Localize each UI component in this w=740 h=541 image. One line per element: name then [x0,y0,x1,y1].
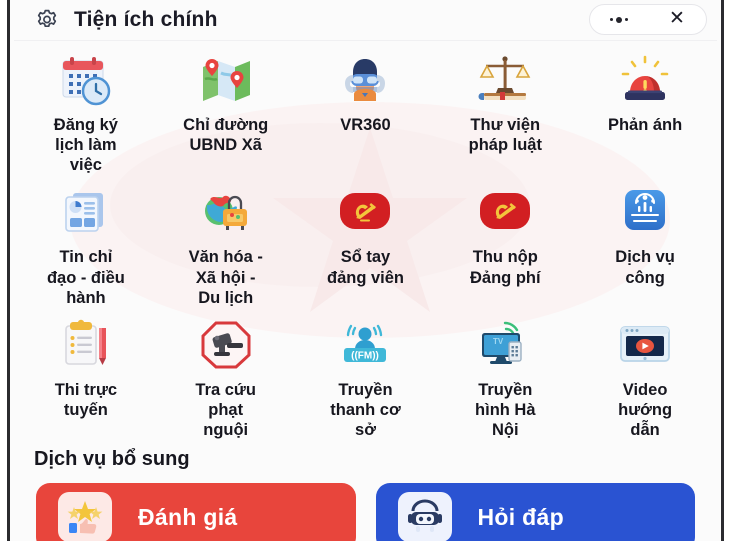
utility-label: Tra cứu phạt nguội [195,380,256,440]
utility-label: Phản ánh [608,115,682,135]
utility-tile-dang-ky-lich-lam-viec[interactable]: Đăng ký lịch làm việc [16,45,156,177]
speed-camera-icon [195,316,257,374]
calendar-clock-icon [55,51,117,109]
utility-label: Sổ tay đảng viên [327,247,404,287]
utility-label: Thu nộp Đảng phí [470,247,541,287]
danh-gia-button[interactable]: Đánh giá [36,483,356,541]
video-player-icon [614,316,676,374]
party-emblem-icon [334,183,396,241]
fm-radio-icon: ((FM)) [334,316,396,374]
screenshot-border-right [721,0,724,541]
utility-label: Văn hóa - Xã hội - Du lịch [189,247,263,307]
newspaper-report-icon [55,183,117,241]
utility-tile-tin-chi-dao-dieu-hanh[interactable]: Tin chỉ đạo - điều hành [16,177,156,309]
utility-label: Truyền hình Hà Nội [475,380,536,440]
utility-tile-tra-cuu-phat-nguoi[interactable]: Tra cứu phạt nguội [156,310,296,442]
vr-headset-icon [334,51,396,109]
extra-services-heading: Dịch vụ bổ sung [34,448,721,471]
utility-tile-thu-nop-dang-phi[interactable]: Thu nộp Đảng phí [435,177,575,309]
close-icon[interactable]: ✕ [663,7,691,32]
map-location-icon [195,51,257,109]
hoi-dap-button[interactable]: Hỏi đáp [376,483,696,541]
window-controls: ✕ [589,4,707,35]
utility-tile-truyen-hinh-ha-noi[interactable]: TV Truyền hình Hà Nội [435,310,575,442]
panel-header: Tiện ích chính ✕ [10,0,721,40]
svg-text:TV: TV [493,337,504,346]
public-service-icon [614,183,676,241]
chatbot-icon [398,492,452,541]
utility-tile-thi-truc-tuyen[interactable]: Thi trực tuyến [16,310,156,442]
danh-gia-label: Đánh giá [138,504,238,531]
extra-services-buttons: Đánh giá Hỏi đáp [10,471,721,541]
utility-label: Đăng ký lịch làm việc [54,115,118,175]
utility-tile-chi-duong-ubnd-xa[interactable]: Chỉ đường UBND Xã [156,45,296,177]
law-scales-book-icon [474,51,536,109]
utility-label: Video hướng dẫn [618,380,672,440]
utility-label: VR360 [340,115,390,135]
header-divider [14,40,717,41]
utility-tile-van-hoa-xa-hoi-du-lich[interactable]: Văn hóa - Xã hội - Du lịch [156,177,296,309]
utility-tile-video-huong-dan[interactable]: Video hướng dẫn [575,310,715,442]
utility-tile-dich-vu-cong[interactable]: Dịch vụ công [575,177,715,309]
gear-icon[interactable] [34,7,60,33]
utility-tile-phan-anh[interactable]: Phản ánh [575,45,715,177]
globe-suitcase-icon [195,183,257,241]
utility-label: Thư viện pháp luật [469,115,542,155]
app-screen: Tiện ích chính ✕ [0,0,740,541]
utility-tile-so-tay-dang-vien[interactable]: Sổ tay đảng viên [296,177,436,309]
utilities-grid: Đăng ký lịch làm việc [10,41,721,442]
utility-label: Thi trực tuyến [55,380,117,420]
page-title: Tiện ích chính [74,8,218,32]
utility-tile-truyen-thanh-co-so[interactable]: ((FM)) Truyền thanh cơ sở [296,310,436,442]
utility-label: Tin chỉ đạo - điều hành [47,247,125,307]
svg-text:((FM)): ((FM)) [352,350,380,361]
utility-label: Dịch vụ công [615,247,675,287]
rating-stars-icon [58,492,112,541]
screenshot-border-left [7,0,10,541]
utility-tile-thu-vien-phap-luat[interactable]: Thư viện pháp luật [435,45,575,177]
utility-label: Truyền thanh cơ sở [330,380,400,440]
clipboard-pencil-icon [55,316,117,374]
utility-label: Chỉ đường UBND Xã [183,115,268,155]
siren-alarm-icon [614,51,676,109]
utilities-panel: Tiện ích chính ✕ [10,0,721,541]
utility-tile-vr360[interactable]: VR360 [296,45,436,177]
more-options-button[interactable] [605,13,633,27]
hoi-dap-label: Hỏi đáp [478,504,564,531]
party-emblem-icon [474,183,536,241]
smart-tv-icon: TV [474,316,536,374]
